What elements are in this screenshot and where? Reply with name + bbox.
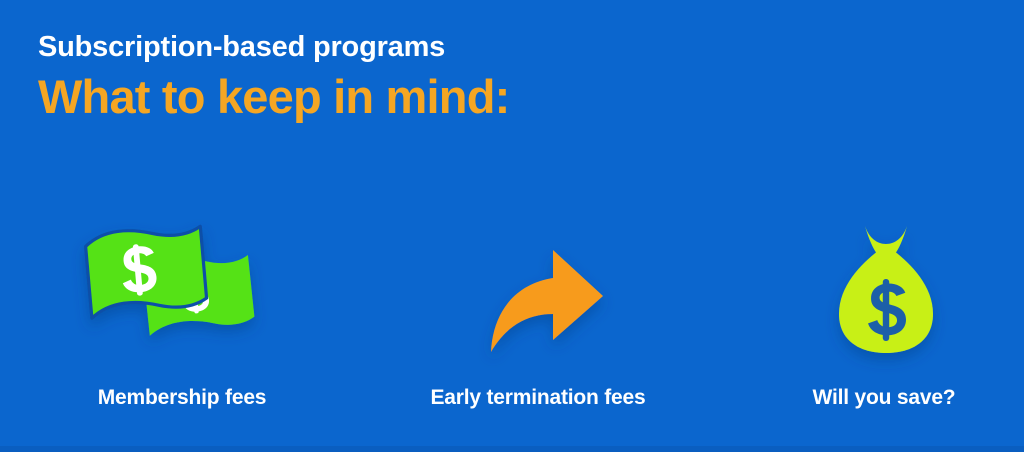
page-title: What to keep in mind: [38,68,738,126]
money-bag-icon [831,220,941,360]
banknotes-icon [75,210,285,360]
curved-arrow-right-icon [481,240,611,360]
item-caption: Will you save? [813,386,956,410]
banknotes-icon-wrap [75,200,285,360]
money-bag-icon-wrap [831,200,941,360]
item-caption: Early termination fees [430,386,645,410]
curved-arrow-icon-wrap [481,200,611,360]
item-caption: Membership fees [98,386,267,410]
item-early-termination-fees: Early termination fees [372,195,704,410]
icon-columns: Membership fees Early termination fees [0,195,1024,410]
item-membership-fees: Membership fees [0,195,372,410]
heading-block: Subscription-based programs What to keep… [38,28,738,126]
item-will-you-save: Will you save? [704,195,1024,410]
eyebrow-heading: Subscription-based programs [38,28,738,66]
infographic-banner: Subscription-based programs What to keep… [0,0,1024,452]
bottom-band [0,446,1024,452]
